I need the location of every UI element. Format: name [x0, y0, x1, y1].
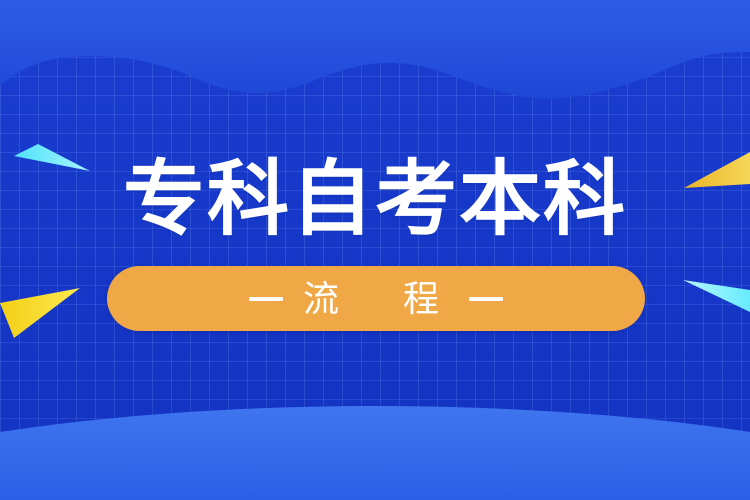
- triangle-cyan-right: [683, 280, 750, 312]
- subtitle-pill: 流 程: [107, 266, 645, 331]
- poster-banner: 专科自考本科 流 程: [0, 0, 750, 500]
- wave-band-bottom: [0, 406, 750, 500]
- decorative-shapes: [0, 0, 750, 500]
- wave-band-top: [0, 0, 750, 99]
- dash-left-icon: [249, 297, 283, 301]
- dash-right-icon: [469, 297, 503, 301]
- subtitle-text-group: 流 程: [249, 279, 503, 319]
- poster-headline: 专科自考本科: [0, 152, 750, 248]
- subtitle-label: 流 程: [299, 279, 453, 319]
- triangle-yellow-left: [0, 288, 80, 338]
